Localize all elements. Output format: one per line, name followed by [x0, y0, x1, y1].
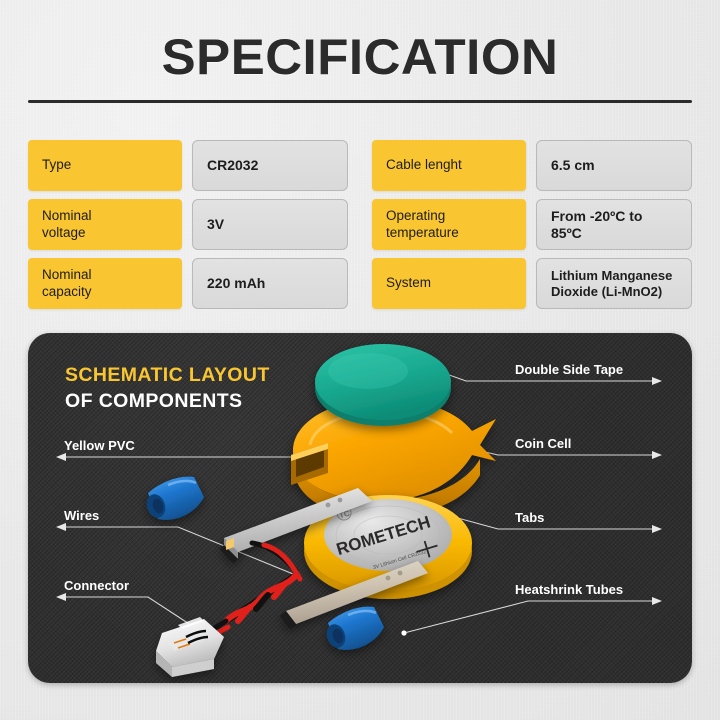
- spec-value: 6.5 cm: [536, 140, 692, 191]
- schematic-heading: SCHEMATIC LAYOUT OF COMPONENTS: [65, 362, 270, 415]
- spec-value: From -20ºC to 85ºC: [536, 199, 692, 250]
- spec-label: Operatingtemperature: [372, 199, 526, 250]
- spec-value: 3V: [192, 199, 348, 250]
- heatshrink-tube-upper: [144, 477, 204, 521]
- specification-table: Type CR2032 Cable lenght 6.5 cm Nominalv…: [28, 140, 692, 307]
- callout-heatshrink-tubes: Heatshrink Tubes: [515, 582, 623, 597]
- callout-tabs: Tabs: [515, 510, 544, 525]
- spec-label: Type: [28, 140, 182, 191]
- heatshrink-tube-lower: [324, 607, 384, 651]
- spec-row-cable-length: Cable lenght 6.5 cm: [372, 140, 692, 191]
- callout-double-side-tape: Double Side Tape: [515, 362, 623, 377]
- schematic-panel: SCHEMATIC LAYOUT OF COMPONENTS: [28, 333, 692, 683]
- callout-connector: Connector: [64, 578, 129, 593]
- spec-label: Cable lenght: [372, 140, 526, 191]
- title-divider: [28, 100, 692, 103]
- spec-row-system: System Lithium ManganeseDioxide (Li-MnO2…: [372, 258, 692, 309]
- page-title: SPECIFICATION: [0, 28, 720, 86]
- spec-label: System: [372, 258, 526, 309]
- spec-value: CR2032: [192, 140, 348, 191]
- specification-infographic: SPECIFICATION Type CR2032 Cable lenght 6…: [0, 0, 720, 720]
- spec-row-nominal-capacity: Nominalcapacity 220 mAh: [28, 258, 348, 309]
- callout-coin-cell: Coin Cell: [515, 436, 571, 451]
- callout-wires: Wires: [64, 508, 99, 523]
- spec-row-nominal-voltage: Nominalvoltage 3V: [28, 199, 348, 250]
- spec-value: Lithium ManganeseDioxide (Li-MnO2): [536, 258, 692, 309]
- schematic-heading-line1: SCHEMATIC LAYOUT: [65, 362, 270, 388]
- schematic-heading-line2: OF COMPONENTS: [65, 388, 270, 414]
- double-side-tape-disc: [315, 344, 451, 426]
- callout-yellow-pvc: Yellow PVC: [64, 438, 135, 453]
- spec-row-type: Type CR2032: [28, 140, 348, 191]
- spec-label: Nominalvoltage: [28, 199, 182, 250]
- spec-row-operating-temperature: Operatingtemperature From -20ºC to 85ºC: [372, 199, 692, 250]
- spec-label: Nominalcapacity: [28, 258, 182, 309]
- spec-value: 220 mAh: [192, 258, 348, 309]
